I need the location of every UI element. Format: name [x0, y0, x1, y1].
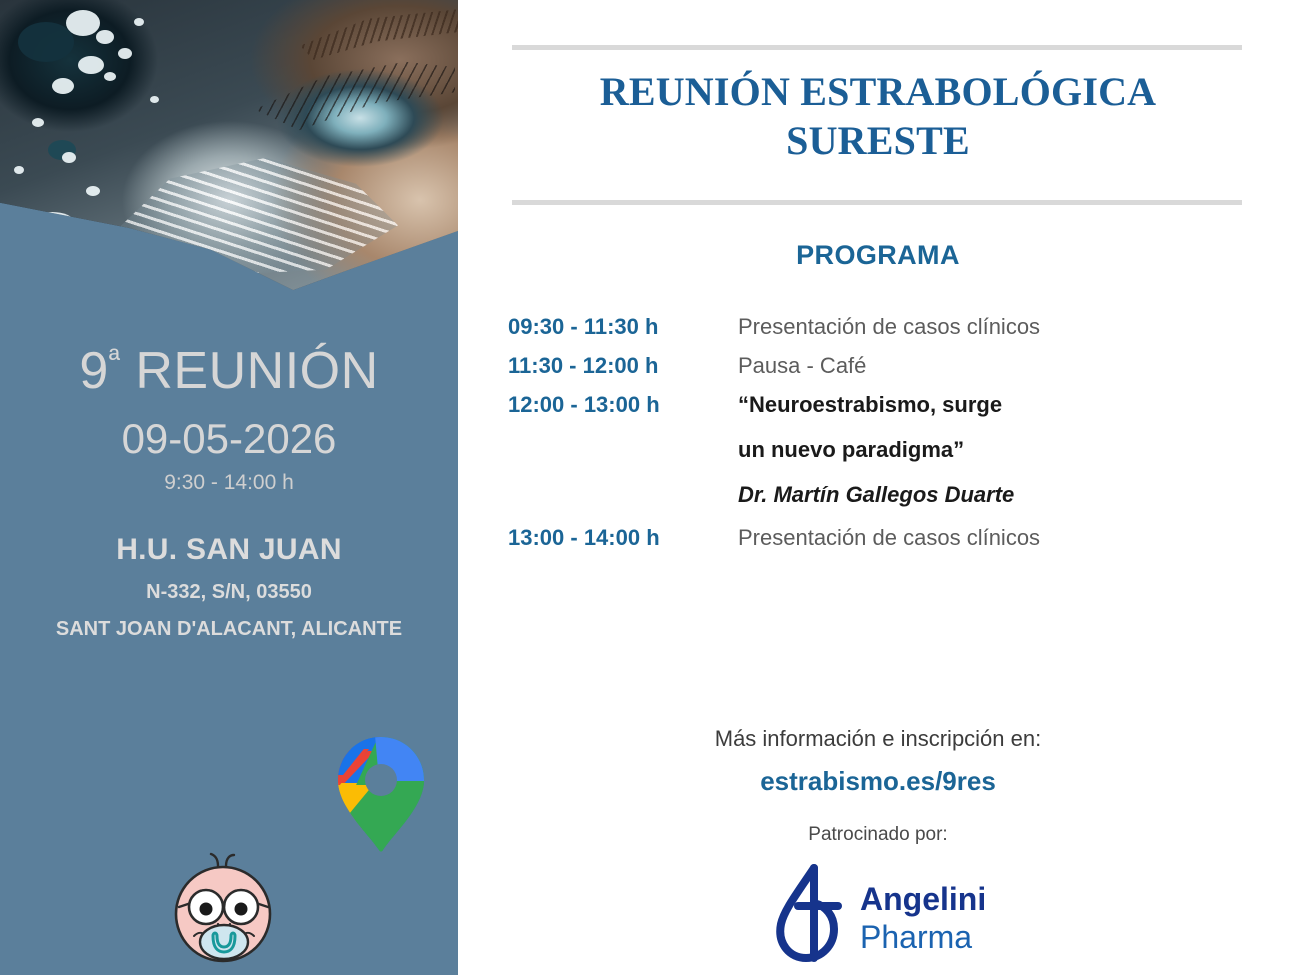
divider-top — [512, 45, 1242, 50]
page-title-line-1: REUNIÓN ESTRABOLÓGICA — [478, 68, 1278, 117]
left-text-block: 9ª REUNIÓN 09-05-2026 9:30 - 14:00 h H.U… — [0, 344, 458, 641]
talk-title-line-1: “Neuroestrabismo, surge — [738, 388, 1268, 421]
schedule-row: 11:30 - 12:00 h Pausa - Café — [508, 349, 1268, 382]
meeting-number-ordinal: ª — [109, 344, 121, 377]
event-time: 9:30 - 14:00 h — [0, 471, 458, 495]
schedule-time: 11:30 - 12:00 h — [508, 349, 738, 382]
angelini-a-mark-icon — [780, 868, 838, 958]
sponsor-name-bold: Angelini — [860, 881, 986, 917]
more-info-label: Más información e inscripción en: — [478, 726, 1278, 752]
venue-address-line-2: SANT JOAN D'ALACANT, ALICANTE — [0, 618, 458, 641]
schedule-time: 13:00 - 14:00 h — [508, 521, 738, 554]
event-poster: 9ª REUNIÓN 09-05-2026 9:30 - 14:00 h H.U… — [0, 0, 1300, 975]
meeting-number-value: 9 — [79, 342, 108, 400]
meeting-number-word: REUNIÓN — [135, 342, 378, 400]
meeting-number: 9ª REUNIÓN — [0, 344, 458, 399]
schedule-row: 09:30 - 11:30 h Presentación de casos cl… — [508, 310, 1268, 343]
angelini-pharma-logo: Angelini Pharma — [768, 862, 1008, 962]
schedule-time: 09:30 - 11:30 h — [508, 310, 738, 343]
eye-water-splash-photo — [0, 0, 458, 312]
schedule-row: 13:00 - 14:00 h Presentación de casos cl… — [508, 521, 1268, 554]
schedule-description: Presentación de casos clínicos — [738, 521, 1268, 554]
schedule-row-featured: 12:00 - 13:00 h “Neuroestrabismo, surge … — [508, 388, 1268, 511]
event-date: 09-05-2026 — [0, 417, 458, 461]
talk-speaker: Dr. Martín Gallegos Duarte — [738, 478, 1268, 511]
divider-bottom — [512, 200, 1242, 205]
venue-address-line-1: N-332, S/N, 03550 — [0, 581, 458, 604]
baby-face-with-glasses-icon — [168, 852, 280, 970]
page-title-line-2: SURESTE — [478, 117, 1278, 166]
water-droplets — [0, 0, 458, 312]
right-program-panel: REUNIÓN ESTRABOLÓGICA SURESTE PROGRAMA 0… — [458, 0, 1300, 975]
talk-title-line-2: un nuevo paradigma” — [738, 433, 1268, 466]
registration-link[interactable]: estrabismo.es/9res — [478, 766, 1278, 797]
google-maps-pin-icon[interactable] — [335, 735, 427, 853]
schedule-time: 12:00 - 13:00 h — [508, 388, 738, 421]
sponsor-name-light: Pharma — [860, 919, 972, 955]
sponsored-by-label: Patrocinado por: — [478, 824, 1278, 846]
schedule-list: 09:30 - 11:30 h Presentación de casos cl… — [508, 310, 1268, 560]
schedule-description: “Neuroestrabismo, surge un nuevo paradig… — [738, 388, 1268, 511]
left-info-panel: 9ª REUNIÓN 09-05-2026 9:30 - 14:00 h H.U… — [0, 0, 458, 975]
venue-name: H.U. SAN JUAN — [0, 533, 458, 567]
programa-heading: PROGRAMA — [478, 240, 1278, 271]
page-title: REUNIÓN ESTRABOLÓGICA SURESTE — [478, 68, 1278, 166]
schedule-description: Pausa - Café — [738, 349, 1268, 382]
schedule-description: Presentación de casos clínicos — [738, 310, 1268, 343]
